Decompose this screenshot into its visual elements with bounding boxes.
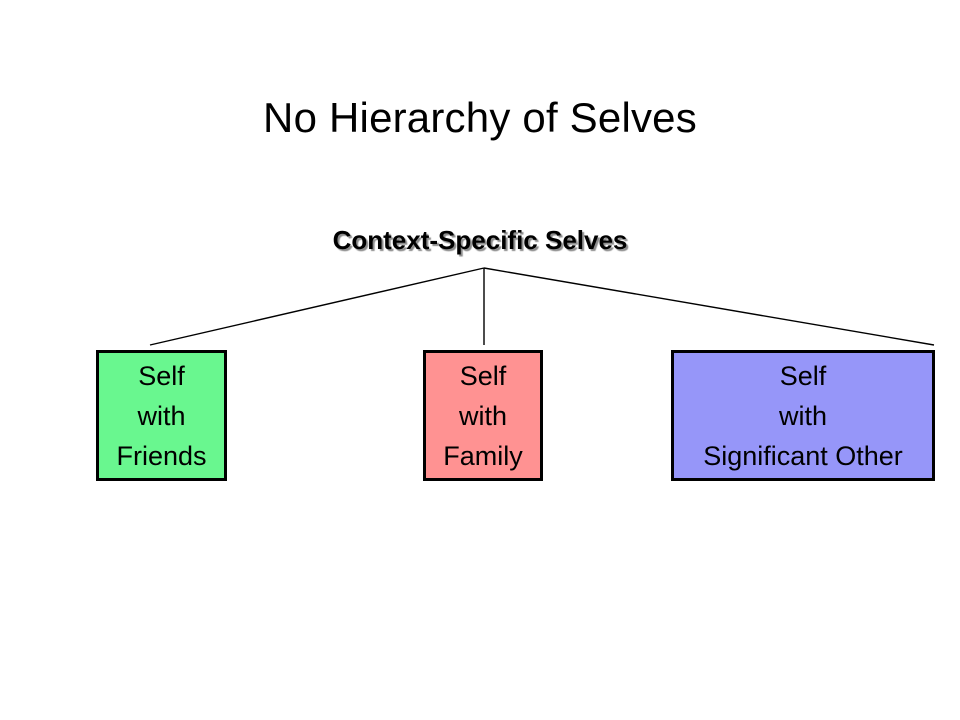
node-family-line-2: with	[459, 396, 507, 436]
node-family-line-1: Self	[460, 356, 507, 396]
connector-line-friends	[150, 268, 484, 345]
page-title: No Hierarchy of Selves	[0, 96, 960, 140]
connector-line-significant-other	[484, 268, 934, 345]
node-significant-other-line-3: Significant Other	[703, 436, 903, 476]
node-box-significant-other[interactable]: Self with Significant Other	[671, 350, 935, 481]
node-significant-other-line-1: Self	[780, 356, 827, 396]
node-family-line-3: Family	[443, 436, 523, 476]
node-friends-line-1: Self	[138, 356, 185, 396]
node-box-friends[interactable]: Self with Friends	[96, 350, 227, 481]
slide-canvas: No Hierarchy of Selves Context-Specific …	[0, 0, 960, 720]
diagram-root-label: Context-Specific Selves	[0, 227, 960, 254]
node-friends-line-2: with	[137, 396, 185, 436]
node-friends-line-3: Friends	[116, 436, 206, 476]
node-significant-other-line-2: with	[779, 396, 827, 436]
node-box-family[interactable]: Self with Family	[423, 350, 543, 481]
